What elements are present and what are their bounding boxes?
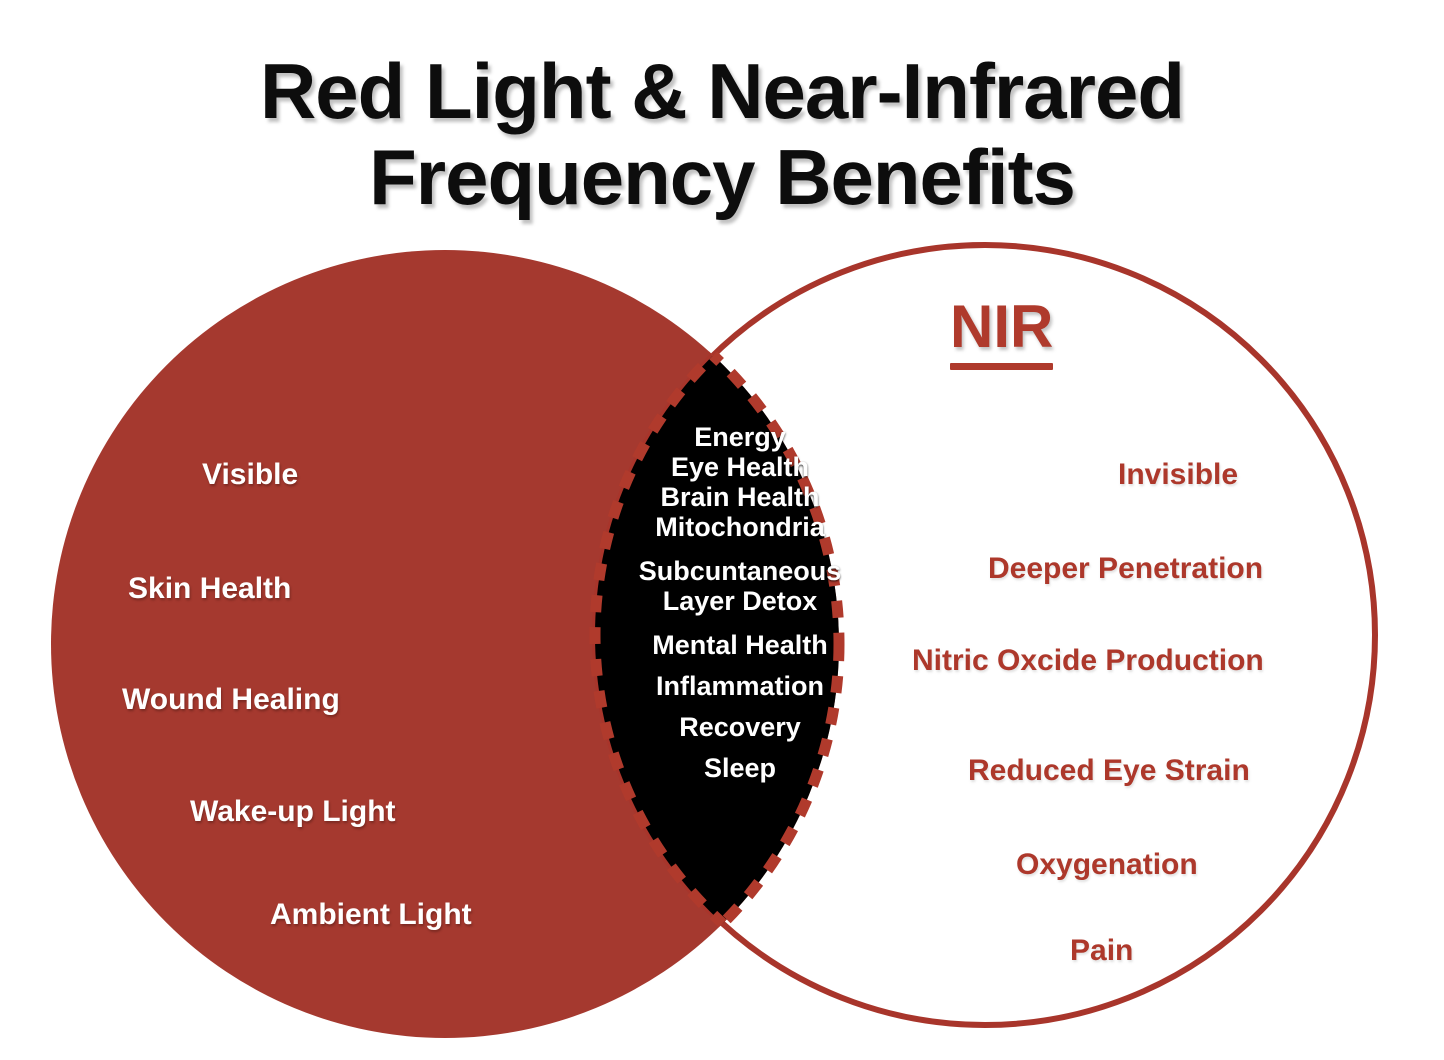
spacer <box>612 616 868 630</box>
spacer <box>612 742 868 753</box>
list-item-wrapped-line-2: Layer Detox <box>612 586 868 616</box>
list-item: Eye Health <box>612 452 868 482</box>
list-item: Brain Health <box>612 482 868 512</box>
spacer <box>612 542 868 556</box>
list-item: Ambient Light <box>270 898 472 932</box>
list-item: Deeper Penetration <box>988 552 1263 586</box>
spacer <box>612 701 868 712</box>
list-item: Wake-up Light <box>190 795 396 829</box>
spacer <box>612 660 868 671</box>
list-item: Inflammation <box>612 671 868 701</box>
list-item: Energy <box>612 422 868 452</box>
list-item: Mitochondria <box>612 512 868 542</box>
list-item-wrapped-line-1: Subcuntaneous <box>612 556 868 586</box>
list-item: Visible <box>202 458 298 492</box>
list-item: Sleep <box>612 753 868 783</box>
infographic-canvas: Red Light & Near-Infrared Frequency Bene… <box>0 0 1444 1060</box>
list-item: Invisible <box>1118 458 1238 492</box>
list-item: Skin Health <box>128 572 291 606</box>
list-item: Wound Healing <box>122 683 340 717</box>
list-item: Reduced Eye Strain <box>968 754 1250 788</box>
page-title: Red Light & Near-Infrared Frequency Bene… <box>0 48 1444 220</box>
list-item: Pain <box>1070 934 1133 968</box>
list-item: Nitric Oxcide Production <box>912 644 1264 678</box>
list-item: Oxygenation <box>1016 848 1198 882</box>
list-item: Recovery <box>612 712 868 742</box>
shared-benefit-list: Energy Eye Health Brain Health Mitochond… <box>612 422 868 783</box>
list-item: Mental Health <box>612 630 868 660</box>
title-line-1: Red Light & Near-Infrared <box>0 48 1444 134</box>
title-line-2: Frequency Benefits <box>0 134 1444 220</box>
